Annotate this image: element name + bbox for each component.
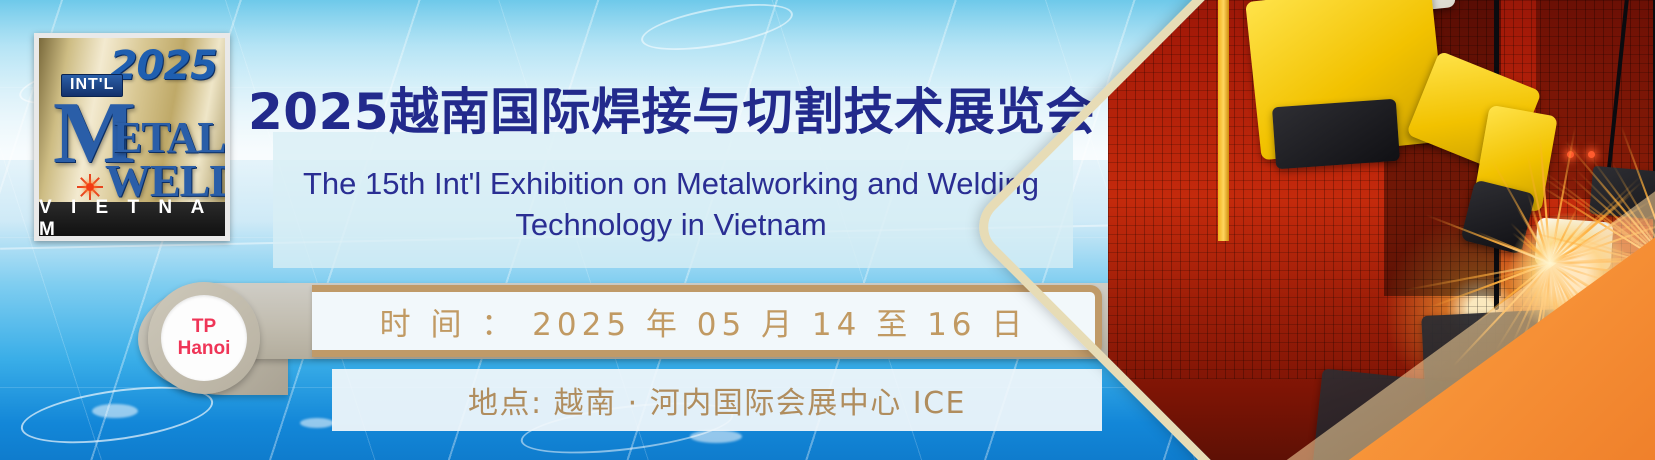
- event-venue-bar: 地点: 越南 · 河内国际会展中心 ICE: [332, 369, 1102, 431]
- city-badge: TP Hanoi: [148, 282, 260, 394]
- city-badge-inner: TP Hanoi: [161, 295, 247, 381]
- photo-rail: [1218, 0, 1229, 241]
- logo-plate: 2025 INT'L M ETAL WELD V I E T N A M: [39, 38, 225, 236]
- logo-word-etal: ETAL: [113, 116, 225, 160]
- photo-indicator-led: [1588, 151, 1595, 158]
- decorative-blob: [690, 430, 742, 443]
- robot-joint-dark: [1272, 99, 1400, 170]
- decorative-blob: [92, 404, 138, 418]
- metal-weld-logo: 2025 INT'L M ETAL WELD V I E T N A M: [34, 33, 230, 241]
- subtitle-line-1: The 15th Int'l Exhibition on Metalworkin…: [265, 163, 1077, 204]
- logo-year: 2025: [110, 43, 217, 89]
- city-badge-line-2: Hanoi: [178, 338, 231, 360]
- event-date-text: 时 间 ： 2025 年 05 月 14 至 16 日: [380, 299, 1028, 344]
- page-subtitle: The 15th Int'l Exhibition on Metalworkin…: [265, 163, 1077, 245]
- photo-indicator-led: [1567, 151, 1574, 158]
- decorative-ring-icon: [638, 0, 796, 59]
- city-badge-line-1: TP: [192, 316, 216, 338]
- logo-country-label: V I E T N A M: [39, 202, 225, 236]
- exhibition-banner: 2025 INT'L M ETAL WELD V I E T N A M 202…: [0, 0, 1655, 460]
- event-venue-text: 地点: 越南 · 河内国际会展中心 ICE: [468, 378, 966, 422]
- decorative-blob: [300, 418, 334, 428]
- page-title: 2025越南国际焊接与切割技术展览会: [248, 72, 1078, 144]
- subtitle-line-2: Technology in Vietnam: [265, 204, 1077, 245]
- event-date-bar: 时 间 ： 2025 年 05 月 14 至 16 日: [312, 285, 1102, 357]
